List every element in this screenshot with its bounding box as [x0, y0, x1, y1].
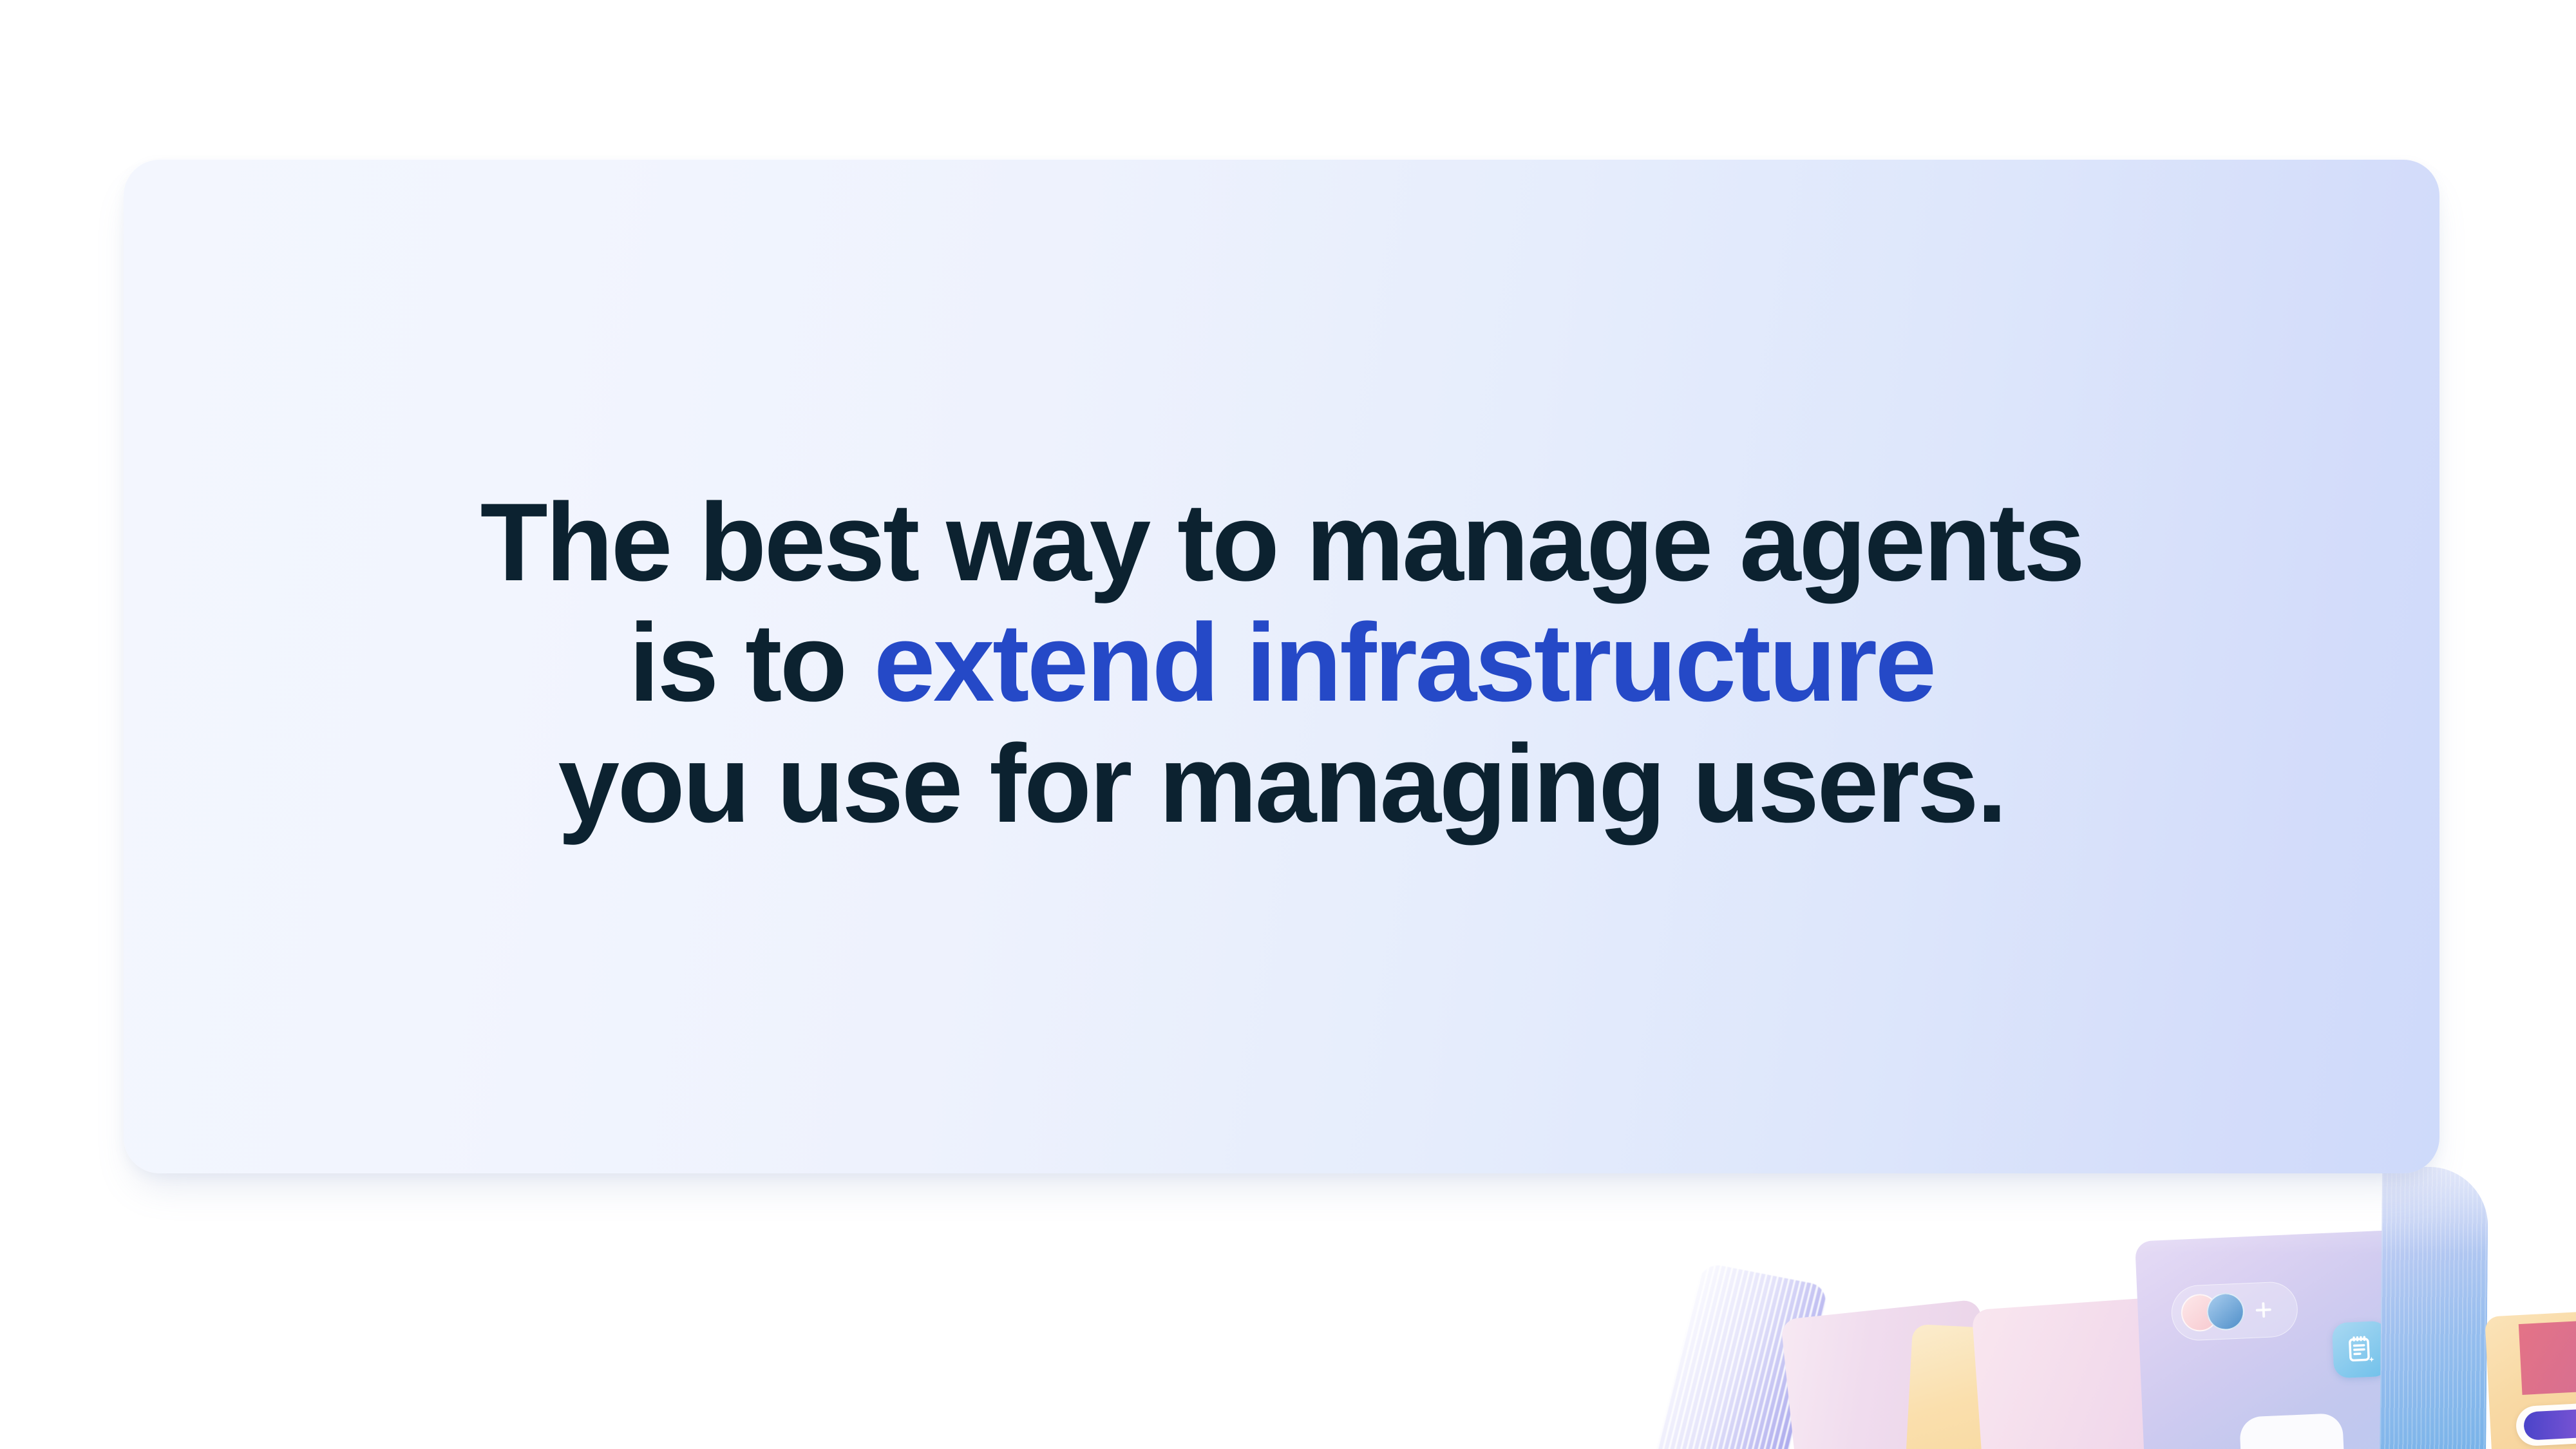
note-sparkle-icon [2332, 1321, 2390, 1379]
headline-accent-phrase: extend infrastructure [874, 601, 1935, 724]
headline-line-2-prefix: is to [629, 601, 873, 724]
pink-sheet [1972, 1295, 2202, 1449]
headline-line-1: The best way to manage agents [480, 482, 2083, 603]
page-root: The best way to manage agents is to exte… [0, 0, 2576, 1449]
right-card-swoosh [2519, 1318, 2576, 1395]
right-card-progress-bar: Sources [2515, 1399, 2576, 1447]
collage-top-fade [1636, 1159, 2576, 1449]
headline-line-3: you use for managing users. [480, 724, 2083, 844]
amber-right-card: Sources [2485, 1309, 2576, 1449]
headline-line-2: is to extend infrastructure [480, 603, 2083, 723]
right-card-progress-fill [2523, 1408, 2576, 1441]
add-member-icon [2250, 1296, 2277, 1323]
decorative-collage: Sources [1636, 1159, 2576, 1449]
avatar [2206, 1292, 2245, 1331]
hero-card-content: The best way to manage agents is to exte… [124, 160, 2439, 1173]
blue-striped-sheet [2380, 1166, 2488, 1449]
violet-ui-panel [2135, 1229, 2421, 1449]
mauve-sheet [1781, 1299, 1996, 1449]
avatar-group-pill [2170, 1281, 2299, 1341]
hero-card: The best way to manage agents is to exte… [124, 160, 2439, 1173]
panel-white-blob [2239, 1413, 2345, 1449]
hero-headline: The best way to manage agents is to exte… [480, 482, 2083, 851]
striped-lavender-sheet [1656, 1262, 1830, 1449]
avatar [2181, 1293, 2219, 1332]
amber-sheet [1905, 1324, 2074, 1449]
